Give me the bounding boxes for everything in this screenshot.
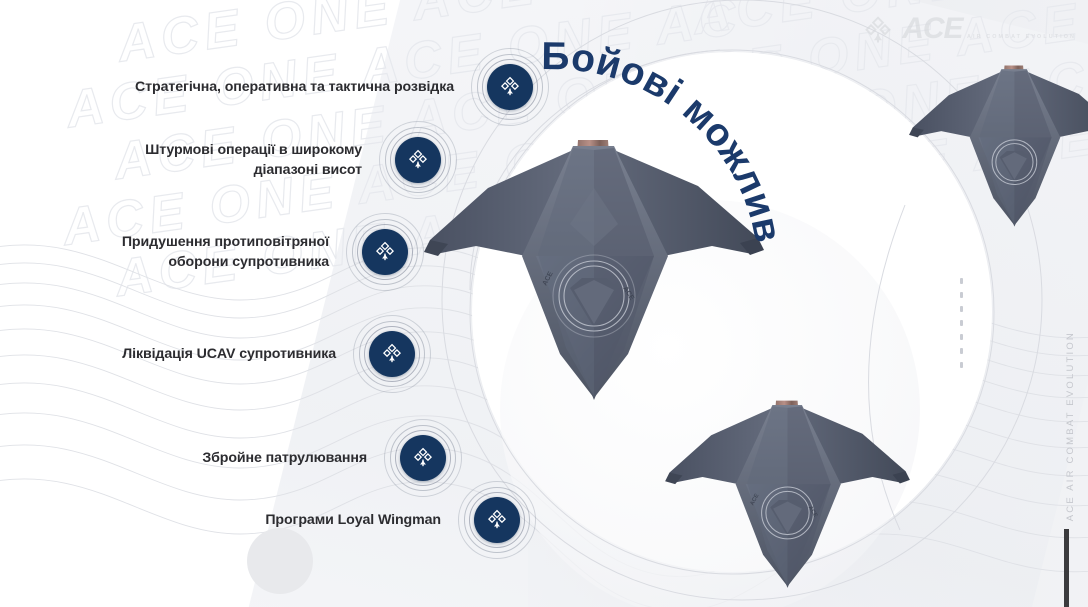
spade-glyph-icon: [380, 342, 404, 366]
capability-item-loyal-wingman[interactable]: Програми Loyal Wingman: [0, 480, 537, 560]
spade-glyph-icon: [406, 148, 430, 172]
badge-disc: [487, 64, 533, 110]
capability-item-sead[interactable]: Придушення протиповітряної оборони супро…: [0, 212, 425, 292]
capability-label: Збройне патрулювання: [202, 448, 383, 468]
ace-logo-tagline: AIR COMBAT EVOLUTION: [967, 34, 1076, 40]
capability-label: Штурмові операції в широкому діапазоні в…: [145, 140, 378, 180]
badge-disc: [369, 331, 415, 377]
ace-logo-wordmark: ACE AIR COMBAT EVOLUTION: [902, 14, 1076, 43]
ucav-drone-top-right: [905, 58, 1088, 244]
spade-glyph-icon: [411, 446, 435, 470]
spade-glyph-icon: [498, 75, 522, 99]
capability-item-counter-ucav[interactable]: Ліквідація UCAV супротивника: [0, 314, 432, 394]
badge-disc: [474, 497, 520, 543]
right-edge-bar: [1064, 529, 1069, 607]
spade-glyph-icon: [485, 508, 509, 532]
ucav-drone-lower: ACE ACE: [660, 392, 928, 607]
spade-glyph-icon: [373, 240, 397, 264]
capability-item-strike-altitude[interactable]: Штурмові операції в широкому діапазоні в…: [0, 120, 458, 200]
capability-item-recon[interactable]: Стратегічна, оперативна та тактична розв…: [0, 47, 550, 127]
badge-disc: [362, 229, 408, 275]
vertical-brand-text: ACE AIR COMBAT EVOLUTION: [1065, 331, 1076, 521]
capability-label: Стратегічна, оперативна та тактична розв…: [135, 77, 470, 97]
ace-spade-icon[interactable]: [352, 314, 432, 394]
capabilities-list: Стратегічна, оперативна та тактична розв…: [0, 0, 560, 607]
ace-logo: ACE AIR COMBAT EVOLUTION: [861, 14, 1076, 48]
badge-disc: [395, 137, 441, 183]
ace-spade-icon[interactable]: [457, 480, 537, 560]
capability-label: Ліквідація UCAV супротивника: [122, 344, 352, 364]
ace-spade-mark-icon: [861, 14, 895, 48]
ace-spade-icon[interactable]: [345, 212, 425, 292]
slide-canvas: ACE ONE ACE ONE AC: [0, 0, 1088, 607]
ace-logo-name: ACE: [902, 12, 962, 45]
ace-spade-icon[interactable]: [470, 47, 550, 127]
badge-disc: [400, 435, 446, 481]
capability-label: Програми Loyal Wingman: [265, 510, 457, 530]
ace-spade-icon[interactable]: [378, 120, 458, 200]
capability-label: Придушення протиповітряної оборони супро…: [122, 232, 345, 272]
